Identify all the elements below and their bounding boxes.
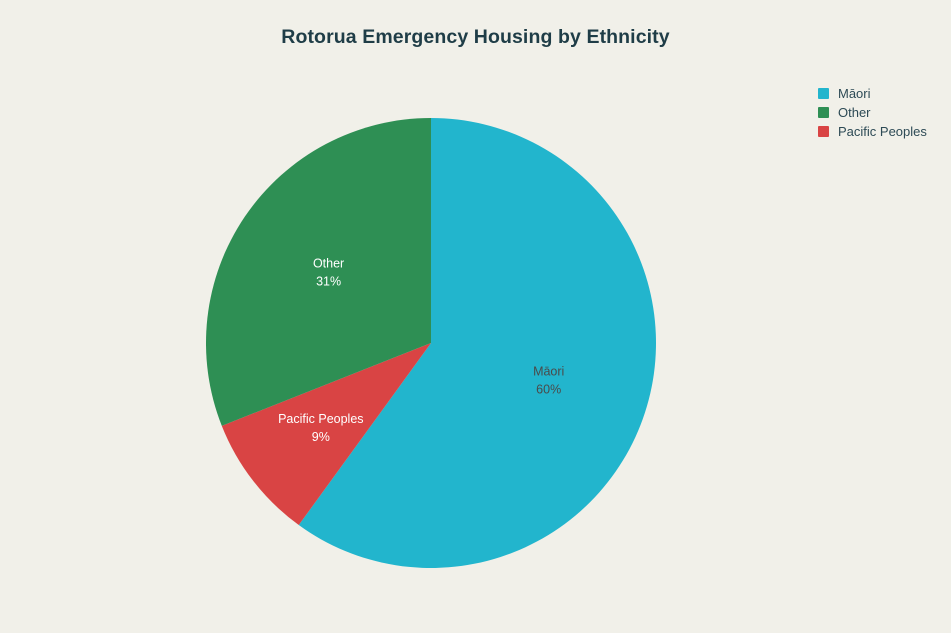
legend-item[interactable]: Māori <box>818 84 948 102</box>
pie-slice-label-value: 31% <box>316 275 341 289</box>
legend-swatch-icon <box>818 88 829 99</box>
legend-swatch-icon <box>818 126 829 137</box>
legend-item[interactable]: Pacific Peoples <box>818 122 948 140</box>
pie-slice-label-name: Pacific Peoples <box>278 412 363 426</box>
pie-slice-label-value: 60% <box>536 382 561 396</box>
pie-slices-group <box>206 118 656 568</box>
legend-item-label: Pacific Peoples <box>838 125 927 138</box>
legend-item-label: Other <box>838 106 871 119</box>
pie-slice-label-value: 9% <box>312 430 330 444</box>
legend-item-label: Māori <box>838 87 871 100</box>
legend-swatch-icon <box>818 107 829 118</box>
legend: MāoriOtherPacific Peoples <box>818 84 948 141</box>
chart-title: Rotorua Emergency Housing by Ethnicity <box>0 26 951 49</box>
pie-svg: Māori60%Pacific Peoples9%Other31% <box>206 118 656 568</box>
pie-plot-area: Māori60%Pacific Peoples9%Other31% <box>206 118 656 568</box>
pie-slice-label-name: Other <box>313 257 344 271</box>
pie-slice-label-name: Māori <box>533 364 564 378</box>
legend-item[interactable]: Other <box>818 103 948 121</box>
pie-chart-figure: Rotorua Emergency Housing by Ethnicity M… <box>0 0 951 633</box>
